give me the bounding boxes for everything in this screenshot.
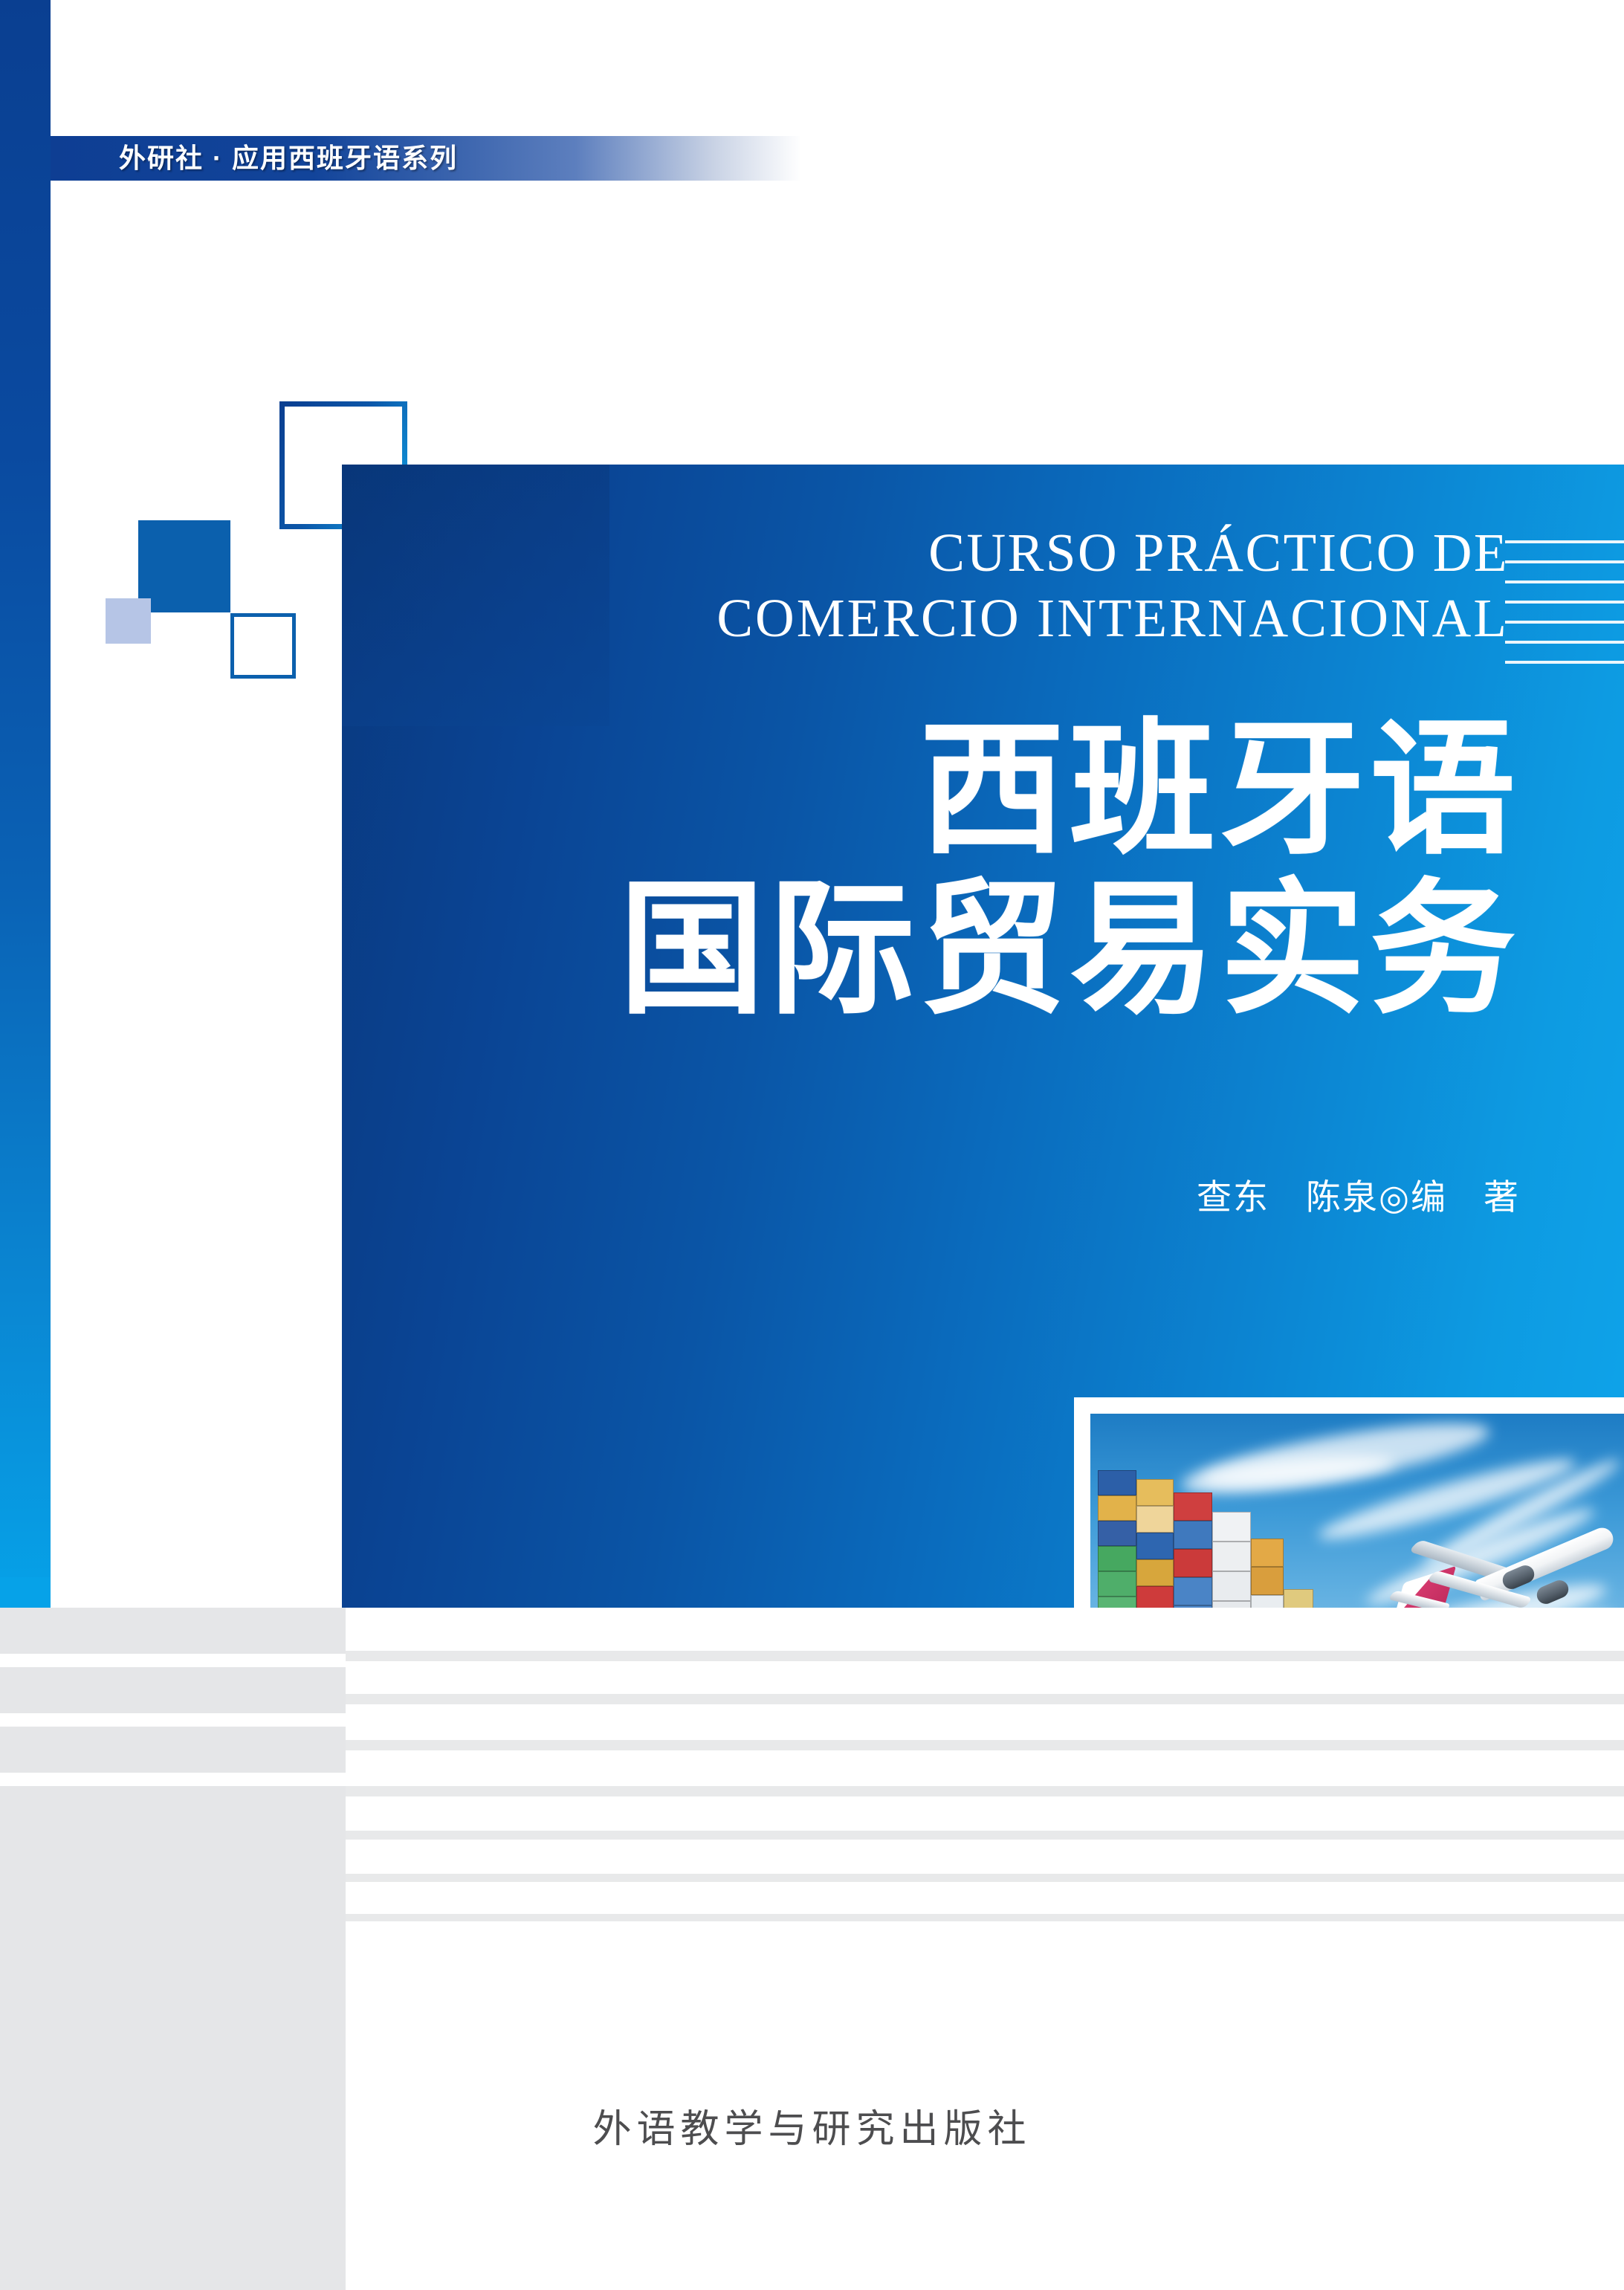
chinese-title-line-2: 国际贸易实务: [342, 870, 1520, 1029]
spanish-title-line-2: COMERCIO INTERNACIONAL: [342, 586, 1509, 651]
edge-line-marks-decor: [1501, 540, 1624, 674]
spanish-title-line-1: CURSO PRÁCTICO DE: [342, 520, 1509, 586]
series-banner-label: 外研社 · 应用西班牙语系列: [119, 138, 458, 179]
medium-filled-square-decor: [138, 520, 230, 612]
chinese-title: 西班牙语 国际贸易实务: [342, 710, 1520, 1029]
publisher-name: 外语教学与研究出版社: [0, 2103, 1624, 2155]
chinese-title-line-1: 西班牙语: [342, 710, 1520, 870]
bottom-left-gray-block: [0, 1808, 346, 2290]
bottom-blue-chip-decor: [0, 1577, 51, 1608]
authors-line: 查东 陈泉◎编 著: [342, 1174, 1520, 1220]
left-accent-bar: [0, 0, 51, 1608]
spanish-title: CURSO PRÁCTICO DE COMERCIO INTERNACIONAL: [342, 520, 1509, 651]
book-cover: 外研社 · 应用西班牙语系列 CURSO PRÁCTICO DE COMERCI…: [0, 0, 1624, 2290]
small-outlined-square-decor: [230, 613, 296, 679]
small-lavender-square-decor: [106, 598, 151, 644]
